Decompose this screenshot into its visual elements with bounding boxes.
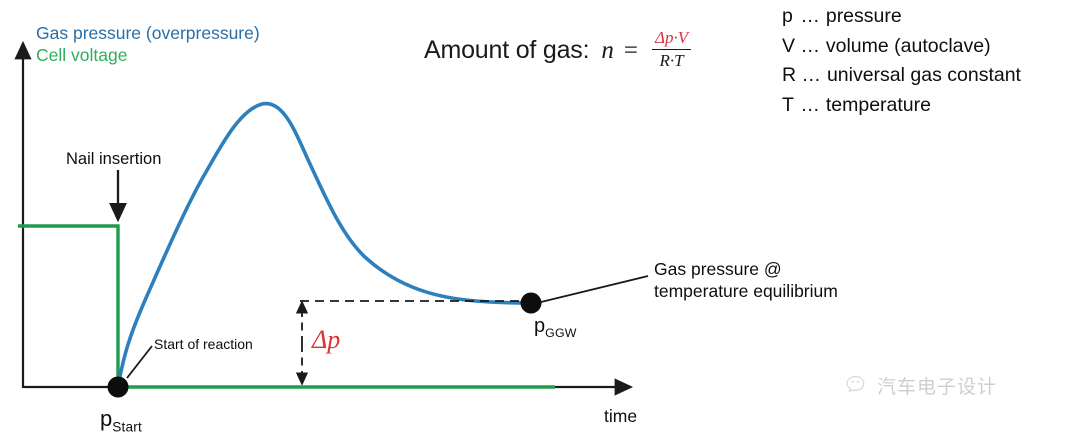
- p-start-base: p: [100, 406, 112, 431]
- p-ggw-base: p: [534, 315, 545, 337]
- p-start-subscript: Start: [112, 419, 142, 434]
- p-start-marker: [108, 377, 129, 398]
- gas-pressure-equilibrium-label: Gas pressure @ temperature equilibrium: [654, 258, 838, 303]
- nail-insertion-label: Nail insertion: [66, 150, 161, 169]
- gas-pressure-equilibrium-line1: Gas pressure @: [654, 258, 838, 280]
- watermark: 汽车电子设计: [846, 372, 997, 399]
- p-ggw-marker: [521, 293, 542, 314]
- p-ggw-subscript: GGW: [545, 326, 577, 340]
- slide-canvas: Gas pressure (overpressure) Cell voltage…: [0, 0, 1080, 444]
- delta-p-label: Δp: [312, 325, 340, 355]
- watermark-text: 汽车电子设计: [877, 372, 997, 399]
- p-ggw-label: pGGW: [534, 315, 577, 340]
- cell-voltage-curve: [18, 226, 555, 387]
- wechat-bubble-icon: [846, 375, 870, 396]
- start-of-reaction-label: Start of reaction: [154, 336, 253, 352]
- gas-pressure-equilibrium-line2: temperature equilibrium: [654, 280, 838, 302]
- p-start-label: pStart: [100, 406, 142, 434]
- start-of-reaction-leader: [127, 346, 152, 378]
- equilibrium-leader: [541, 276, 648, 302]
- time-axis-label: time: [604, 406, 637, 427]
